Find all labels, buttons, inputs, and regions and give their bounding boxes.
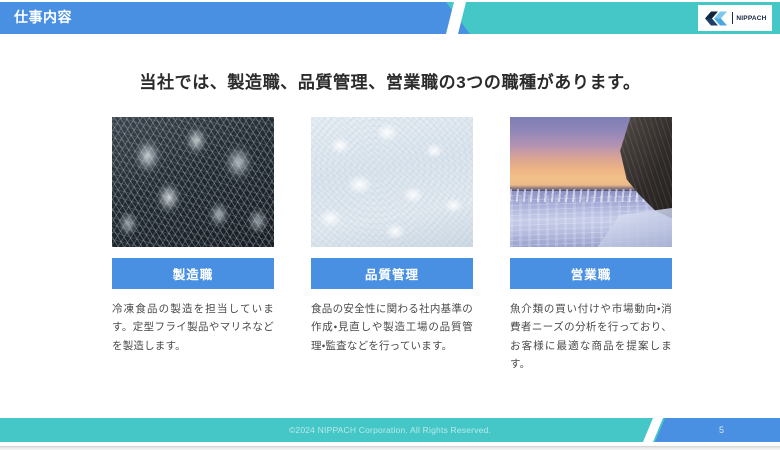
job-card-sales: 営業職 魚介類の買い付けや市場動向・消費者ニーズの分析を行っており、お客様に最適… xyxy=(510,117,672,374)
job-card-label: 営業職 xyxy=(510,258,672,289)
nippach-logo: NIPPACH xyxy=(698,5,772,31)
job-card-description: 魚介類の買い付けや市場動向・消費者ニーズの分析を行っており、お客様に最適な商品を… xyxy=(510,300,672,374)
job-card-manufacturing: 製造職 冷凍食品の製造を担当しています。定型フライ製品やマリネなどを製造します。 xyxy=(112,117,274,374)
slide-canvas: 仕事内容 NIPPACH 当社では、製造職、品質管理、営業職の3つの職種がありま… xyxy=(0,0,780,450)
job-card-quality-control: 品質管理 食品の安全性に関わる社内基準の作成・見直しや製造工場の品質管理・監査な… xyxy=(311,117,473,374)
page-title: 仕事内容 xyxy=(14,7,72,27)
logo-diamond-icon xyxy=(703,10,729,27)
job-card-description: 冷凍食品の製造を担当しています。定型フライ製品やマリネなどを製造します。 xyxy=(112,300,274,355)
slide-footer: ©2024 NIPPACH Corporation. All Rights Re… xyxy=(0,418,780,442)
frost-pine-needles-photo xyxy=(112,117,274,247)
logo-text: NIPPACH xyxy=(736,15,766,22)
main-heading: 当社では、製造職、品質管理、営業職の3つの職種があります。 xyxy=(0,68,780,93)
page-number: 5 xyxy=(663,418,780,442)
slide-header: 仕事内容 NIPPACH xyxy=(0,0,780,36)
logo-divider xyxy=(732,12,733,24)
sunset-icy-sea-cliff-photo xyxy=(510,117,672,247)
snow-ice-texture-photo xyxy=(311,117,473,247)
slide-bottom-edge xyxy=(0,442,780,450)
job-card-label: 製造職 xyxy=(112,258,274,289)
job-card-label: 品質管理 xyxy=(311,258,473,289)
job-card-description: 食品の安全性に関わる社内基準の作成・見直しや製造工場の品質管理・監査などを行って… xyxy=(311,300,473,355)
job-cards-container: 製造職 冷凍食品の製造を担当しています。定型フライ製品やマリネなどを製造します。… xyxy=(112,117,672,374)
